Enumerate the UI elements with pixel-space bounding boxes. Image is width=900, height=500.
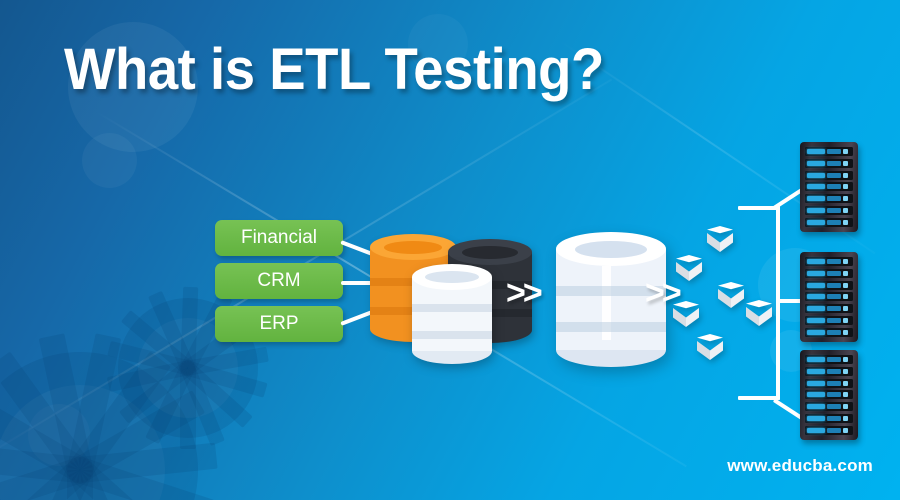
server-slot: [805, 159, 853, 168]
cylinder-band: [556, 322, 666, 332]
server-slot: [805, 328, 853, 337]
server-slot: [805, 414, 853, 423]
server-slot: [805, 367, 853, 376]
source-box-financial[interactable]: Financial: [215, 220, 343, 256]
server-slot: [805, 402, 853, 411]
source-box-label: CRM: [257, 270, 300, 292]
site-watermark: www.educba.com: [727, 456, 873, 476]
server-rack-icon: [800, 350, 858, 440]
gear-teeth: [0, 352, 198, 500]
server-slot: [805, 304, 853, 313]
data-cube-icon: [697, 334, 723, 360]
server-rack-icon: [800, 142, 858, 232]
cylinder-band: [412, 304, 492, 312]
server-slot: [805, 194, 853, 203]
gear-icon: [0, 352, 198, 500]
source-box-label: Financial: [241, 227, 317, 249]
source-box-crm[interactable]: CRM: [215, 263, 343, 299]
source-box-erp[interactable]: ERP: [215, 306, 343, 342]
database-cylinder-white: [412, 264, 492, 364]
server-slot: [805, 281, 853, 290]
server-slot: [805, 218, 853, 227]
server-slot: [805, 426, 853, 435]
etl-testing-banner: What is ETL Testing? Financial CRM ERP: [0, 0, 900, 500]
page-title: What is ETL Testing?: [64, 36, 604, 103]
data-cube-icon: [676, 255, 702, 281]
cylinder-top-inner: [425, 271, 479, 283]
server-slot: [805, 316, 853, 325]
server-slot: [805, 206, 853, 215]
data-cube-icon: [707, 226, 733, 252]
data-cube-icon: [746, 300, 772, 326]
server-slot: [805, 257, 853, 266]
server-slot: [805, 182, 853, 191]
server-slot: [805, 269, 853, 278]
decorative-circle: [28, 404, 90, 466]
server-slot: [805, 147, 853, 156]
cylinder-band: [412, 331, 492, 339]
server-slot: [805, 355, 853, 364]
bracket-vertical: [776, 206, 780, 400]
cylinder-top-inner: [575, 241, 647, 258]
cylinder-top-inner: [384, 241, 442, 254]
cylinder-top-inner: [462, 246, 518, 259]
source-box-label: ERP: [259, 313, 298, 335]
data-cube-icon: [673, 301, 699, 327]
server-slot: [805, 379, 853, 388]
data-cube-icon: [718, 282, 744, 308]
decorative-circle: [82, 133, 137, 188]
server-slot: [805, 292, 853, 301]
flow-arrow-1: >>: [506, 274, 540, 313]
server-slot: [805, 171, 853, 180]
server-rack-icon: [800, 252, 858, 342]
server-slot: [805, 390, 853, 399]
